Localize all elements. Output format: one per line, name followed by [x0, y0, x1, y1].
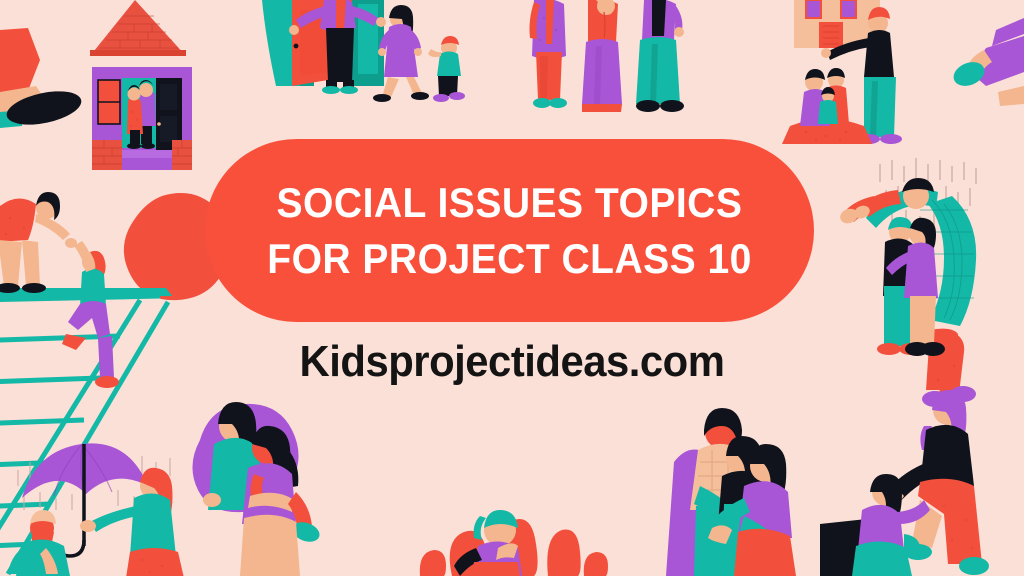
site-name-subtitle: Kidsprojectideas.com — [26, 340, 999, 384]
two-people-embracing — [192, 402, 322, 576]
group-embrace — [666, 408, 796, 576]
jumping-person-top-right — [950, 18, 1024, 106]
title-banner: SOCIAL ISSUES TOPICS FOR PROJECT CLASS 1… — [205, 139, 814, 322]
person-shoe-top-left — [0, 28, 84, 131]
seated-family-group — [782, 68, 872, 144]
title-line-1: SOCIAL ISSUES TOPICS — [277, 182, 743, 224]
person-holding-door-for-family — [262, 0, 465, 102]
title-line-2: FOR PROJECT CLASS 10 — [267, 238, 752, 280]
teal-haired-person-seated — [420, 510, 608, 576]
helping-person-stand-up — [820, 390, 989, 576]
three-standing-people — [530, 0, 685, 112]
poster-canvas: SOCIAL ISSUES TOPICS FOR PROJECT CLASS 1… — [0, 0, 1024, 576]
house-with-couple-hugging — [90, 0, 192, 170]
